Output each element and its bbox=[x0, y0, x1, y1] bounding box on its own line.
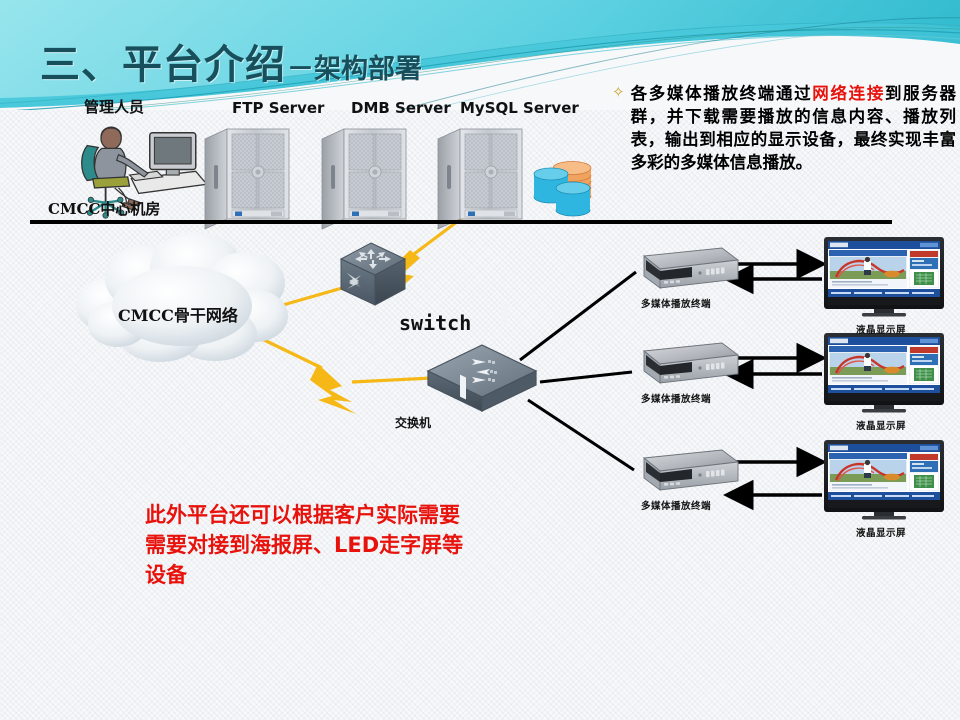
screen-label-1: 液晶显示屏 bbox=[856, 322, 906, 336]
description-highlight: 网络连接 bbox=[812, 84, 885, 103]
screen-label-3: 液晶显示屏 bbox=[856, 525, 906, 539]
red-note-line-1: 此外平台还可以根据客户实际需要 bbox=[145, 500, 545, 530]
red-note-line-2-text: 需要对接到海报屏、LED走字屏等 bbox=[145, 533, 463, 557]
slide-canvas: 三、平台介绍 －架构部署 ✧ 各多媒体播放终端通过网络连接到服务器群，并下载需要… bbox=[0, 0, 960, 720]
datacenter-room-label: CMCC中心机房 bbox=[48, 198, 160, 219]
database-icon-blue-front bbox=[556, 182, 590, 216]
router-label: switch bbox=[399, 311, 471, 335]
red-note: 此外平台还可以根据客户实际需要 需要对接到海报屏、LED走字屏等 设备 bbox=[145, 500, 545, 590]
screen-label-2: 液晶显示屏 bbox=[856, 418, 906, 432]
server-label-dmb: DMB Server bbox=[351, 99, 451, 117]
database-icon-orange bbox=[553, 162, 591, 203]
terminal-label-1: 多媒体播放终端 bbox=[641, 296, 711, 310]
terminal-label-2: 多媒体播放终端 bbox=[641, 391, 711, 405]
database-icon-blue-back bbox=[534, 168, 568, 203]
server-label-ftp: FTP Server bbox=[232, 99, 324, 117]
page-title: 三、平台介绍 －架构部署 bbox=[40, 32, 422, 90]
red-note-line-2: 需要对接到海报屏、LED走字屏等 bbox=[145, 530, 545, 560]
cloud-label: CMCC骨干网络 bbox=[118, 302, 238, 326]
link-servers-to-router bbox=[283, 212, 470, 305]
red-note-line-3: 设备 bbox=[145, 560, 545, 590]
server-label-mysql: MySQL Server bbox=[460, 99, 579, 117]
switch-label: 交换机 bbox=[395, 414, 431, 431]
description-part-1: 各多媒体播放终端通过 bbox=[631, 84, 813, 103]
description-bullet: ✧ 各多媒体播放终端通过网络连接到服务器群，并下载需要播放的信息内容、播放列表，… bbox=[612, 82, 956, 174]
link-terminal-screen-2 bbox=[728, 358, 822, 374]
description-text: 各多媒体播放终端通过网络连接到服务器群，并下载需要播放的信息内容、播放列表，输出… bbox=[631, 82, 956, 174]
page-title-main: 三、平台介绍 bbox=[40, 32, 286, 90]
link-cloud-to-switch bbox=[258, 337, 432, 414]
link-switch-to-terminals bbox=[520, 272, 636, 470]
link-terminal-screen-3 bbox=[728, 462, 822, 495]
admin-label: 管理人员 bbox=[84, 96, 144, 117]
terminal-label-3: 多媒体播放终端 bbox=[641, 498, 711, 512]
page-title-sub: －架构部署 bbox=[287, 47, 422, 86]
datacenter-divider bbox=[30, 220, 892, 224]
diamond-bullet-icon: ✧ bbox=[612, 82, 625, 104]
link-terminal-screen-1 bbox=[728, 264, 822, 279]
